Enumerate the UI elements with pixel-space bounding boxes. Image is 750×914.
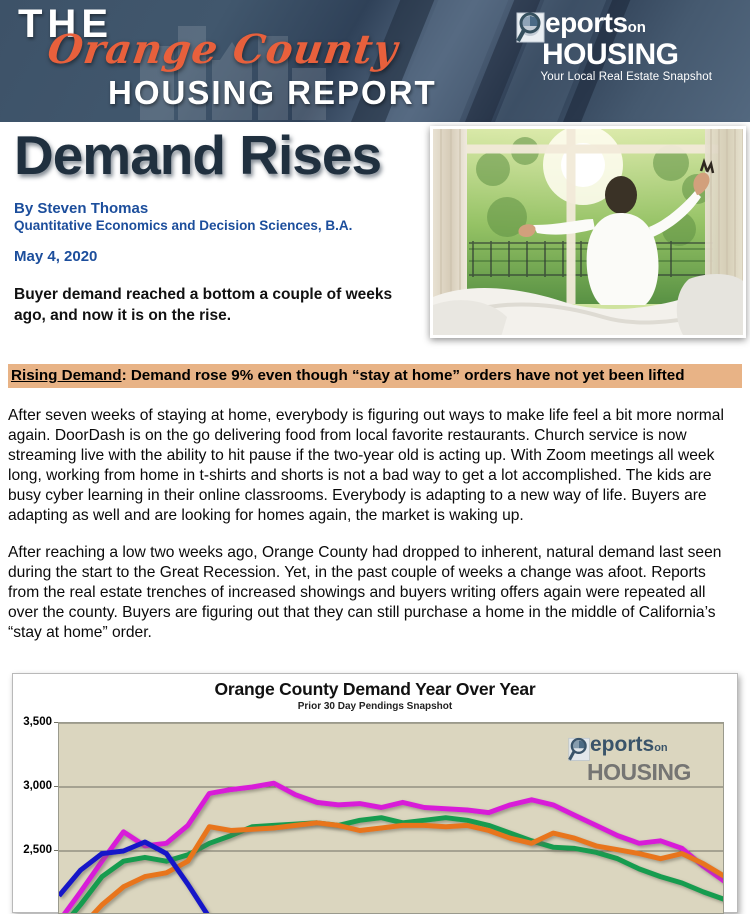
section-heading: Rising Demand: Demand rose 9% even thoug…: [8, 364, 742, 388]
banner-title-group: THE Orange County HOUSING REPORT: [0, 0, 520, 122]
chart-y-tick-label: 3,000: [23, 780, 52, 792]
demand-chart: Orange County Demand Year Over Year Prio…: [12, 673, 738, 913]
chart-y-tick-mark: [54, 786, 58, 787]
chart-y-tick-label: 2,500: [23, 844, 52, 856]
chart-y-tick-mark: [54, 850, 58, 851]
banner-line-housing-report: HOUSING REPORT: [108, 76, 437, 109]
page-title: Demand Rises: [14, 128, 381, 183]
lede-paragraph: Buyer demand reached a bottom a couple o…: [14, 284, 414, 327]
byline: By Steven Thomas Quantitative Economics …: [14, 200, 352, 235]
person-stretching-at-sunlit-window-icon: [433, 129, 746, 338]
body-paragraph: After reaching a low two weeks ago, Oran…: [8, 543, 740, 643]
logo-word-reports: eports: [545, 10, 628, 35]
magnifier-pie-chart-icon: [516, 10, 550, 44]
logo-word-housing: HOUSING: [542, 41, 712, 69]
chart-watermark-logo: eports on HOUSING: [568, 736, 718, 784]
author-name: By Steven Thomas: [14, 200, 352, 218]
article-body: After seven weeks of staying at home, ev…: [8, 406, 740, 659]
masthead-banner: THE Orange County HOUSING REPORT eports …: [0, 0, 750, 122]
reports-on-housing-logo[interactable]: eports on HOUSING Your Local Real Estate…: [516, 10, 712, 86]
author-credentials: Quantitative Economics and Decision Scie…: [14, 218, 352, 234]
watermark-word-on: on: [654, 742, 667, 754]
body-paragraph: After seven weeks of staying at home, ev…: [8, 406, 740, 526]
publish-date: May 4, 2020: [14, 248, 97, 265]
banner-line-orange-county: Orange County: [45, 26, 401, 73]
section-heading-text: : Demand rose 9% even though “stay at ho…: [122, 367, 685, 384]
watermark-word-housing: HOUSING: [587, 762, 718, 784]
logo-tagline: Your Local Real Estate Snapshot: [516, 71, 712, 83]
chart-plot-wrap: 3,5003,0002,500 eports on HOUSING: [58, 722, 724, 914]
chart-y-tick-mark: [54, 722, 58, 723]
hero-photo: [430, 126, 746, 338]
watermark-word-reports: eports: [590, 736, 654, 755]
chart-title: Orange County Demand Year Over Year: [13, 679, 737, 700]
chart-subtitle: Prior 30 Day Pendings Snapshot: [13, 701, 737, 712]
chart-y-tick-label: 3,500: [23, 716, 52, 728]
logo-word-on: on: [628, 19, 646, 36]
section-heading-label: Rising Demand: [11, 367, 122, 384]
